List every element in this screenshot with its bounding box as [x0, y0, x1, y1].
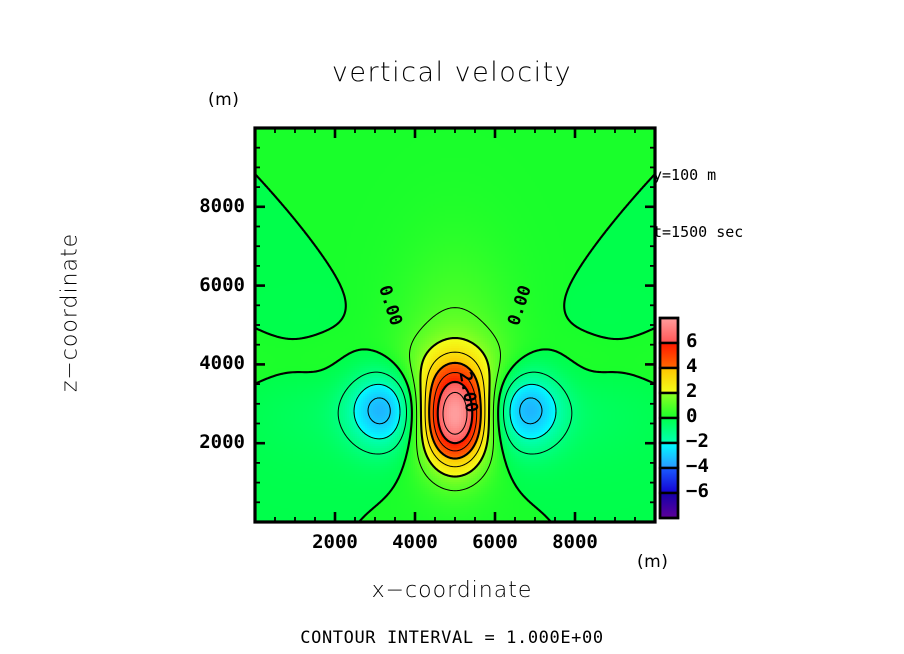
colorbar-band--4[interactable]: [660, 468, 678, 493]
colorbar[interactable]: [660, 318, 678, 518]
colorbar-band-2[interactable]: [660, 393, 678, 418]
colorbar-band-8[interactable]: [660, 318, 678, 343]
colorbar-band-6[interactable]: [660, 343, 678, 368]
figure-canvas: vertical velocity (m) (m) x−coordinate z…: [0, 0, 904, 654]
colorbar-band-4[interactable]: [660, 368, 678, 393]
colorbar-band--6[interactable]: [660, 493, 678, 518]
colorbar-band-0[interactable]: [660, 418, 678, 443]
colorbar-band--2[interactable]: [660, 443, 678, 468]
filled-contour-field: [255, 128, 655, 522]
contour-plot: 0.000.002.00: [0, 0, 904, 654]
